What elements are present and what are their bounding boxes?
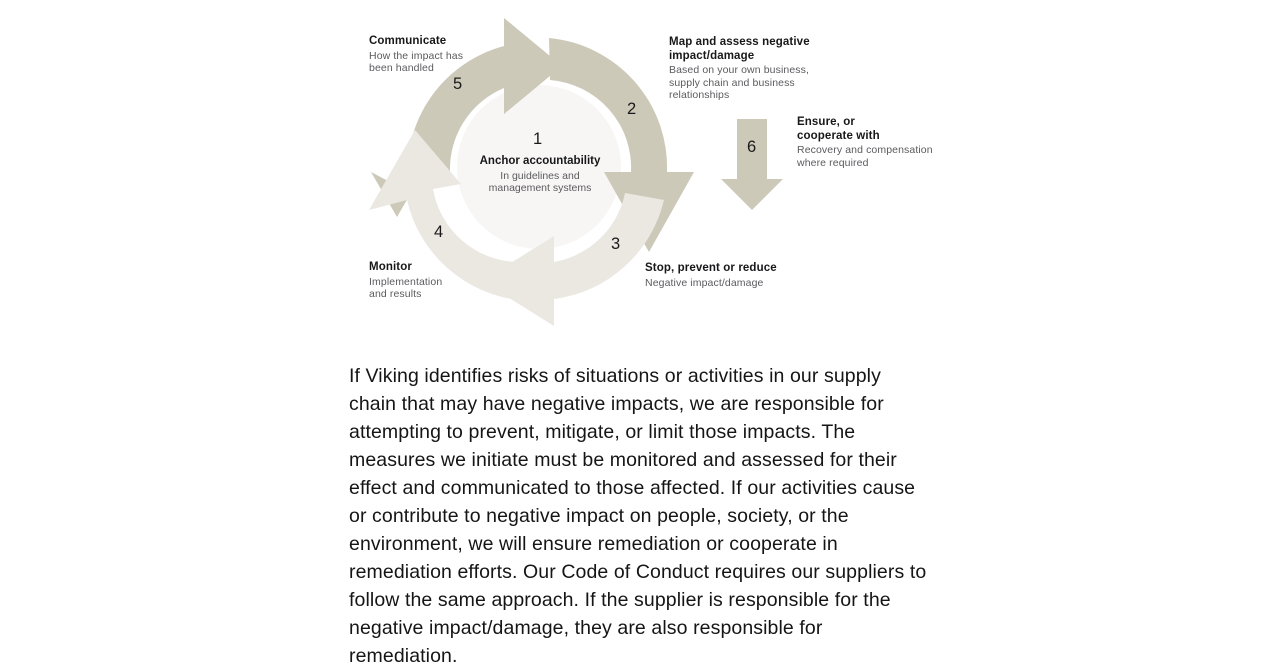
step-label-1-anchor-accountability: Anchor accountability In guidelines and … (455, 155, 625, 194)
step-label-4-monitor: Monitor Implementation and results (369, 261, 442, 300)
step-2-title: Map and assess negative impact/damage (669, 36, 810, 63)
step-4-subtitle: Implementation and results (369, 276, 442, 301)
step-3-title: Stop, prevent or reduce (645, 262, 777, 276)
step-number-6: 6 (747, 138, 756, 157)
step-1-subtitle: In guidelines and management systems (455, 170, 625, 195)
step-4-title: Monitor (369, 261, 442, 275)
step-5-subtitle: How the impact has been handled (369, 50, 463, 75)
due-diligence-cycle-diagram: 1 2 3 4 5 6 Anchor accountability In gui… (0, 0, 1271, 330)
step-label-6-ensure-or-cooperate: Ensure, or cooperate with Recovery and c… (797, 116, 933, 169)
step-number-2: 2 (627, 100, 636, 119)
step-1-title: Anchor accountability (455, 155, 625, 169)
body-paragraph: If Viking identifies risks of situations… (349, 362, 929, 671)
step-number-1: 1 (533, 130, 542, 149)
page-root: 1 2 3 4 5 6 Anchor accountability In gui… (0, 0, 1271, 667)
step-label-3-stop-prevent-reduce: Stop, prevent or reduce Negative impact/… (645, 262, 777, 289)
step-label-2-map-and-assess: Map and assess negative impact/damage Ba… (669, 36, 810, 101)
step-number-4: 4 (434, 223, 443, 242)
step-number-5: 5 (453, 75, 462, 94)
step-label-5-communicate: Communicate How the impact has been hand… (369, 35, 463, 74)
step-6-title: Ensure, or cooperate with (797, 116, 933, 143)
step-6-subtitle: Recovery and compensation where required (797, 144, 933, 169)
step-number-3: 3 (611, 235, 620, 254)
step-3-subtitle: Negative impact/damage (645, 277, 777, 289)
step-5-title: Communicate (369, 35, 463, 49)
arrow-segment-6 (721, 119, 783, 210)
step-2-subtitle: Based on your own business, supply chain… (669, 64, 810, 101)
